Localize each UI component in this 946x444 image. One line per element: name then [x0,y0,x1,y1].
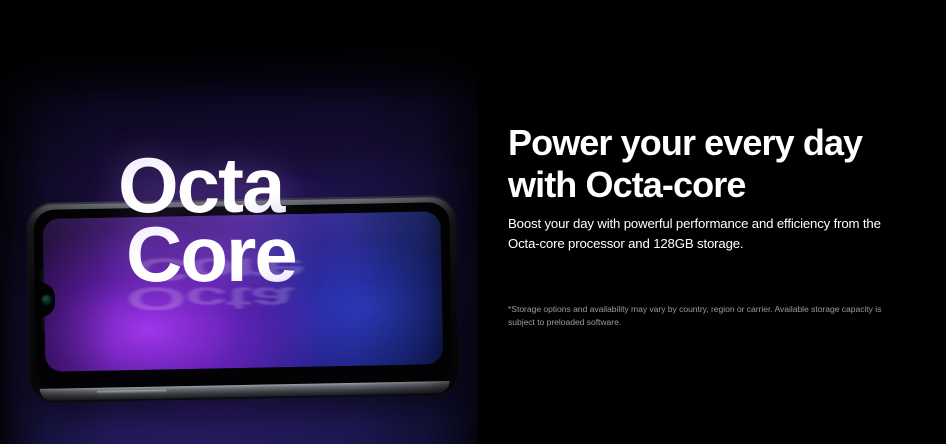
headline-line-1: Power your every day [508,122,862,163]
legal-disclaimer: *Storage options and availability may va… [508,303,908,330]
hero-edge-vignette [0,35,478,444]
promo-banner: Octa Core Octa Core Power your every day… [0,0,946,444]
headline-line-2: with Octa-core [508,164,745,205]
page-title: Power your every day with Octa-core [508,122,888,207]
hero-image-panel: Octa Core Octa Core [0,35,478,444]
copy-column: Power your every day with Octa-core Boos… [508,0,908,444]
body-description: Boost your day with powerful performance… [508,214,906,254]
